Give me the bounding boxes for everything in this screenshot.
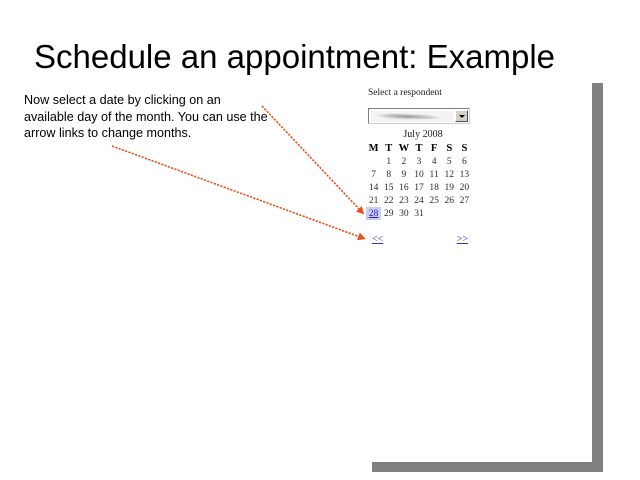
calendar-day-cell: 11 [427, 168, 442, 181]
slide-shadow-right [592, 83, 603, 462]
chevron-down-icon[interactable] [455, 110, 468, 122]
calendar-day-cell [427, 207, 442, 220]
calendar-day-cell: 1 [381, 155, 396, 168]
calendar-month-title: July 2008 [366, 128, 472, 141]
slide-shadow-bottom [372, 462, 603, 472]
calendar-day-cell: 3 [411, 155, 426, 168]
calendar-day-cell: 5 [442, 155, 457, 168]
calendar-weekday-header: M [366, 141, 381, 155]
page-title: Schedule an appointment: Example [34, 38, 614, 76]
calendar-day-cell: 25 [427, 194, 442, 207]
calendar-day-cell: 4 [427, 155, 442, 168]
calendar-day-cell: 20 [457, 181, 472, 194]
calendar-day-cell: 24 [411, 194, 426, 207]
calendar-weekday-header: W [396, 141, 411, 155]
calendar-day-cell: 16 [396, 181, 411, 194]
calendar-week-row: 14 15 16 17 18 19 20 [366, 181, 472, 194]
calendar-table: M T W T F S S 1 2 3 4 5 6 7 8 9 [366, 141, 472, 220]
calendar-day-cell: 12 [442, 168, 457, 181]
calendar-day-cell: 10 [411, 168, 426, 181]
calendar-day-cell: 18 [427, 181, 442, 194]
respondent-select-value [371, 111, 453, 122]
calendar-weekday-header: F [427, 141, 442, 155]
calendar-day-cell: 23 [396, 194, 411, 207]
calendar-day-cell: 26 [442, 194, 457, 207]
calendar-week-row: 28 29 30 31 [366, 207, 472, 220]
calendar-weekday-header: S [457, 141, 472, 155]
calendar-day-cell: 6 [457, 155, 472, 168]
calendar-next-month-link[interactable]: >> [457, 234, 468, 245]
calendar-week-row: 7 8 9 10 11 12 13 [366, 168, 472, 181]
respondent-select[interactable] [368, 108, 470, 124]
calendar-week-row: 21 22 23 24 25 26 27 [366, 194, 472, 207]
arrow-to-selected-day [262, 106, 360, 210]
calendar-day-cell: 7 [366, 168, 381, 181]
calendar-day-cell: 31 [411, 207, 426, 220]
calendar-day-cell: 14 [366, 181, 381, 194]
calendar-weekday-header: T [411, 141, 426, 155]
calendar-day-cell: 19 [442, 181, 457, 194]
calendar-day-cell-selected[interactable]: 28 [366, 207, 381, 220]
calendar-day-cell [457, 207, 472, 220]
respondent-label: Select a respondent [368, 88, 442, 98]
calendar-day-cell: 15 [381, 181, 396, 194]
calendar-day-cell: 22 [381, 194, 396, 207]
calendar-prev-month-link[interactable]: << [372, 234, 383, 245]
calendar-day-link[interactable]: 28 [369, 209, 379, 219]
calendar-day-cell: 13 [457, 168, 472, 181]
arrow-to-prev-month-link [112, 146, 360, 237]
calendar-day-cell: 30 [396, 207, 411, 220]
calendar-day-cell: 2 [396, 155, 411, 168]
calendar-navigation: << >> [366, 234, 472, 248]
calendar-day-cell: 8 [381, 168, 396, 181]
calendar-day-cell: 29 [381, 207, 396, 220]
calendar-weekday-row: M T W T F S S [366, 141, 472, 155]
calendar-week-row: 1 2 3 4 5 6 [366, 155, 472, 168]
calendar-day-cell: 27 [457, 194, 472, 207]
calendar-day-cell: 21 [366, 194, 381, 207]
calendar-day-cell [366, 155, 381, 168]
calendar-day-cell: 9 [396, 168, 411, 181]
calendar-day-cell [442, 207, 457, 220]
calendar-widget: July 2008 M T W T F S S 1 2 3 4 5 6 [366, 128, 472, 220]
calendar-weekday-header: T [381, 141, 396, 155]
calendar-weekday-header: S [442, 141, 457, 155]
instruction-text: Now select a date by clicking on an avai… [24, 92, 269, 142]
calendar-day-cell: 17 [411, 181, 426, 194]
